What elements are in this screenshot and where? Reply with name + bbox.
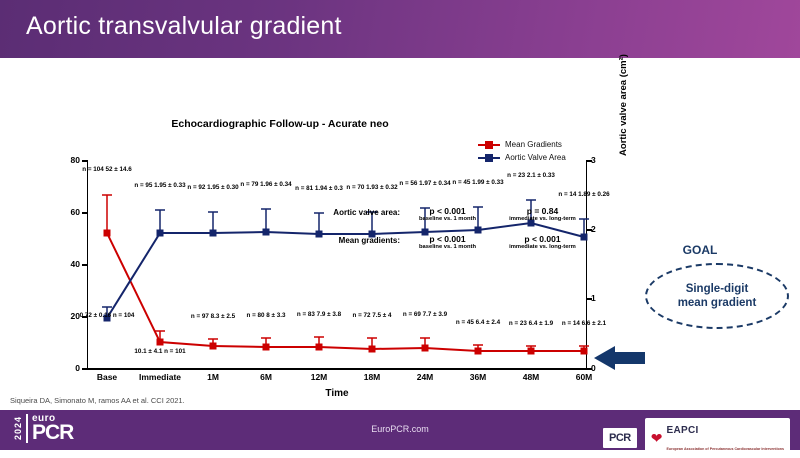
annotation-ava-36m: n = 45 1.99 ± 0.33 <box>438 179 518 187</box>
y-tick-mark-40 <box>82 264 87 266</box>
y-tick-60: 60 <box>58 207 80 217</box>
eapci-logo: ❤ EAPCI European Association of Percutan… <box>645 418 790 458</box>
y-tick-40: 40 <box>58 259 80 269</box>
legend-swatch-mean-gradients <box>478 144 500 146</box>
y2-tick-mark-0 <box>587 368 592 370</box>
goal-callout-line2: mean gradient <box>678 296 757 310</box>
p-value-row-label-ava: Aortic valve area: <box>300 206 400 217</box>
x-tick-base: Base <box>77 372 137 382</box>
x-tick-18m: 18M <box>342 372 402 382</box>
annotation-ava-48m: n = 23 2.1 ± 0.33 <box>491 172 571 180</box>
x-axis-line <box>87 368 587 370</box>
y2-tick-3: 3 <box>591 155 613 165</box>
y-axis-label-right: Aortic valve area (cm²) <box>618 30 629 180</box>
x-tick-36m: 36M <box>448 372 508 382</box>
p-value-cell-ava-longterm: p = 0.84 immediate vs. long-term <box>495 206 590 222</box>
chart-title: Echocardiographic Follow-up - Acurate ne… <box>0 118 560 130</box>
p-value-ava-longterm-sub: immediate vs. long-term <box>495 216 590 222</box>
y-tick-mark-80 <box>82 160 87 162</box>
x-tick-60m: 60M <box>554 372 614 382</box>
p-value-cell-ava-baseline: p < 0.001 baseline vs. 1 month <box>400 206 495 222</box>
y2-tick-mark-3 <box>587 160 592 162</box>
heart-icon: ❤ <box>651 431 663 445</box>
p-value-row-label-mg: Mean gradients: <box>300 234 400 245</box>
legend-item-mean-gradients: Mean Gradients <box>478 138 566 151</box>
p-value-cell-mg-longterm: p < 0.001 immediate vs. long-term <box>495 234 590 250</box>
x-tick-12m: 12M <box>289 372 349 382</box>
y2-tick-2: 2 <box>591 224 613 234</box>
slide-footer: 2024 euro PCR EuroPCR.com PCR ❤ EAPCI Eu… <box>0 410 800 450</box>
footer-logos: PCR ❤ EAPCI European Association of Perc… <box>603 418 790 458</box>
p-value-mg-longterm-sub: immediate vs. long-term <box>495 244 590 250</box>
p-value-mg-baseline: p < 0.001 <box>400 234 495 244</box>
legend-label-mean-gradients: Mean Gradients <box>505 140 562 149</box>
x-tick-6m: 6M <box>236 372 296 382</box>
annotation-ava-60m: n = 14 1.89 ± 0.26 <box>544 191 624 199</box>
p-value-block: Aortic valve area: p < 0.001 baseline vs… <box>300 206 590 262</box>
page-title: Aortic transvalvular gradient <box>26 12 342 41</box>
y2-tick-1: 1 <box>591 293 613 303</box>
annotation-mg-immediate: 10.1 ± 4.1 n = 101 <box>120 348 200 356</box>
legend-swatch-aortic-valve-area <box>478 157 500 159</box>
p-value-row-mg: Mean gradients: p < 0.001 baseline vs. 1… <box>300 234 590 250</box>
y-tick-80: 80 <box>58 155 80 165</box>
goal-callout-line1: Single-digit <box>686 282 749 296</box>
x-tick-48m: 48M <box>501 372 561 382</box>
eapci-name: EAPCI <box>667 425 699 436</box>
x-tick-immediate: Immediate <box>130 372 190 382</box>
eapci-subtitle: European Association of Percutaneous Car… <box>667 447 785 451</box>
p-value-ava-longterm: p = 0.84 <box>495 206 590 216</box>
p-value-ava-baseline: p < 0.001 <box>400 206 495 216</box>
slide-header: Aortic transvalvular gradient <box>0 0 800 58</box>
citation-text: Siqueira DA, Simonato M, ramos AA et al.… <box>10 396 185 405</box>
y-tick-mark-60 <box>82 212 87 214</box>
y2-tick-mark-1 <box>587 298 592 300</box>
p-value-mg-longterm: p < 0.001 <box>495 234 590 244</box>
y-tick-mark-0 <box>82 368 87 370</box>
goal-callout: Single-digit mean gradient <box>645 263 789 329</box>
x-tick-24m: 24M <box>395 372 455 382</box>
pcr-logo: PCR <box>603 428 637 448</box>
p-value-cell-mg-baseline: p < 0.001 baseline vs. 1 month <box>400 234 495 250</box>
annotation-mg-base: n = 104 52 ± 14.6 <box>67 166 147 174</box>
annotation-mg-24m: n = 69 7.7 ± 3.9 <box>385 311 465 319</box>
annotation-mg-60m: n = 14 6.6 ± 2.1 <box>544 320 624 328</box>
x-tick-1m: 1M <box>183 372 243 382</box>
goal-label: GOAL <box>655 243 745 257</box>
p-value-row-ava: Aortic valve area: p < 0.001 baseline vs… <box>300 206 590 222</box>
p-value-ava-baseline-sub: baseline vs. 1 month <box>400 216 495 222</box>
p-value-mg-baseline-sub: baseline vs. 1 month <box>400 244 495 250</box>
annotation-ava-base: 0.72 ± 0.16 n = 104 <box>67 312 147 320</box>
slide-body: Echocardiographic Follow-up - Acurate ne… <box>0 58 800 392</box>
